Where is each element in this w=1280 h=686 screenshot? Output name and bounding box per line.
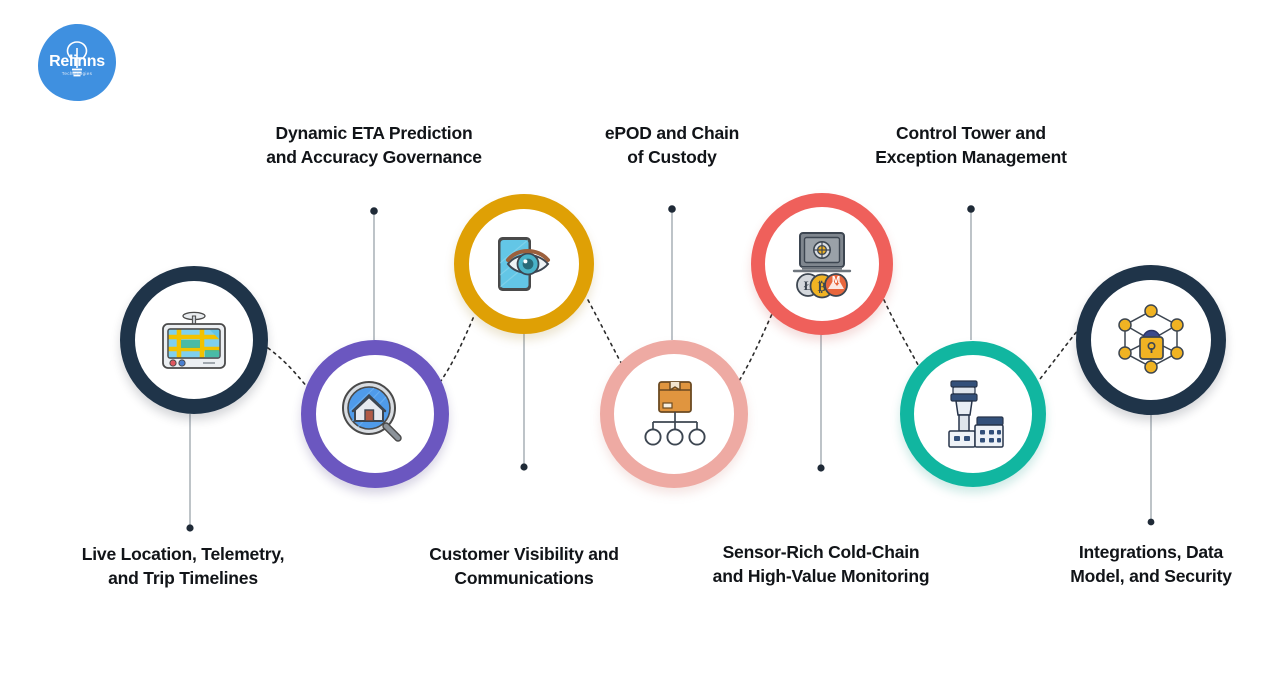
smartphone-eye-icon (469, 209, 579, 319)
gps-navigation-device-icon (135, 281, 253, 399)
magnifier-house-icon (316, 355, 434, 473)
stem-dot-node-3-outer (520, 463, 527, 470)
label-node-4: ePOD and Chain of Custody (562, 121, 782, 169)
stem-dot-node-6-outer (967, 205, 975, 213)
stem-dot-node-1-outer (186, 524, 193, 531)
control-tower-icon (914, 355, 1032, 473)
label-node-3: Customer Visibility and Communications (396, 542, 652, 590)
label-node-1: Live Location, Telemetry, and Trip Timel… (50, 542, 316, 590)
connector-2-3 (436, 316, 474, 388)
label-node-5: Sensor-Rich Cold-Chain and High-Value Mo… (690, 540, 952, 588)
connector-4-5 (736, 314, 772, 386)
node-control-tower[interactable] (900, 341, 1046, 487)
infographic-canvas: Relinns Technologies (0, 0, 1280, 686)
network-lock-icon (1091, 280, 1211, 400)
safe-vault-coins-icon: Ł ₿ M (765, 207, 879, 321)
node-customer-visibility[interactable] (454, 194, 594, 334)
package-chain-of-custody-icon (614, 354, 734, 474)
label-node-6: Control Tower and Exception Management (845, 121, 1097, 169)
label-node-7: Integrations, Data Model, and Security (1038, 540, 1264, 588)
node-dynamic-eta[interactable] (301, 340, 449, 488)
svg-text:M: M (832, 275, 840, 286)
stem-dot-node-4-outer (668, 205, 676, 213)
node-live-location[interactable] (120, 266, 268, 414)
stem-dot-node-7-outer (1148, 519, 1155, 526)
node-epod-custody[interactable] (600, 340, 748, 488)
node-integrations-security[interactable] (1076, 265, 1226, 415)
stem-dot-node-5-outer (817, 464, 824, 471)
connector-6-7 (1036, 330, 1078, 384)
label-node-2: Dynamic ETA Prediction and Accuracy Gove… (240, 121, 508, 169)
stem-dot-node-2-outer (370, 207, 378, 215)
node-cold-chain-monitoring[interactable]: Ł ₿ M (751, 193, 893, 335)
